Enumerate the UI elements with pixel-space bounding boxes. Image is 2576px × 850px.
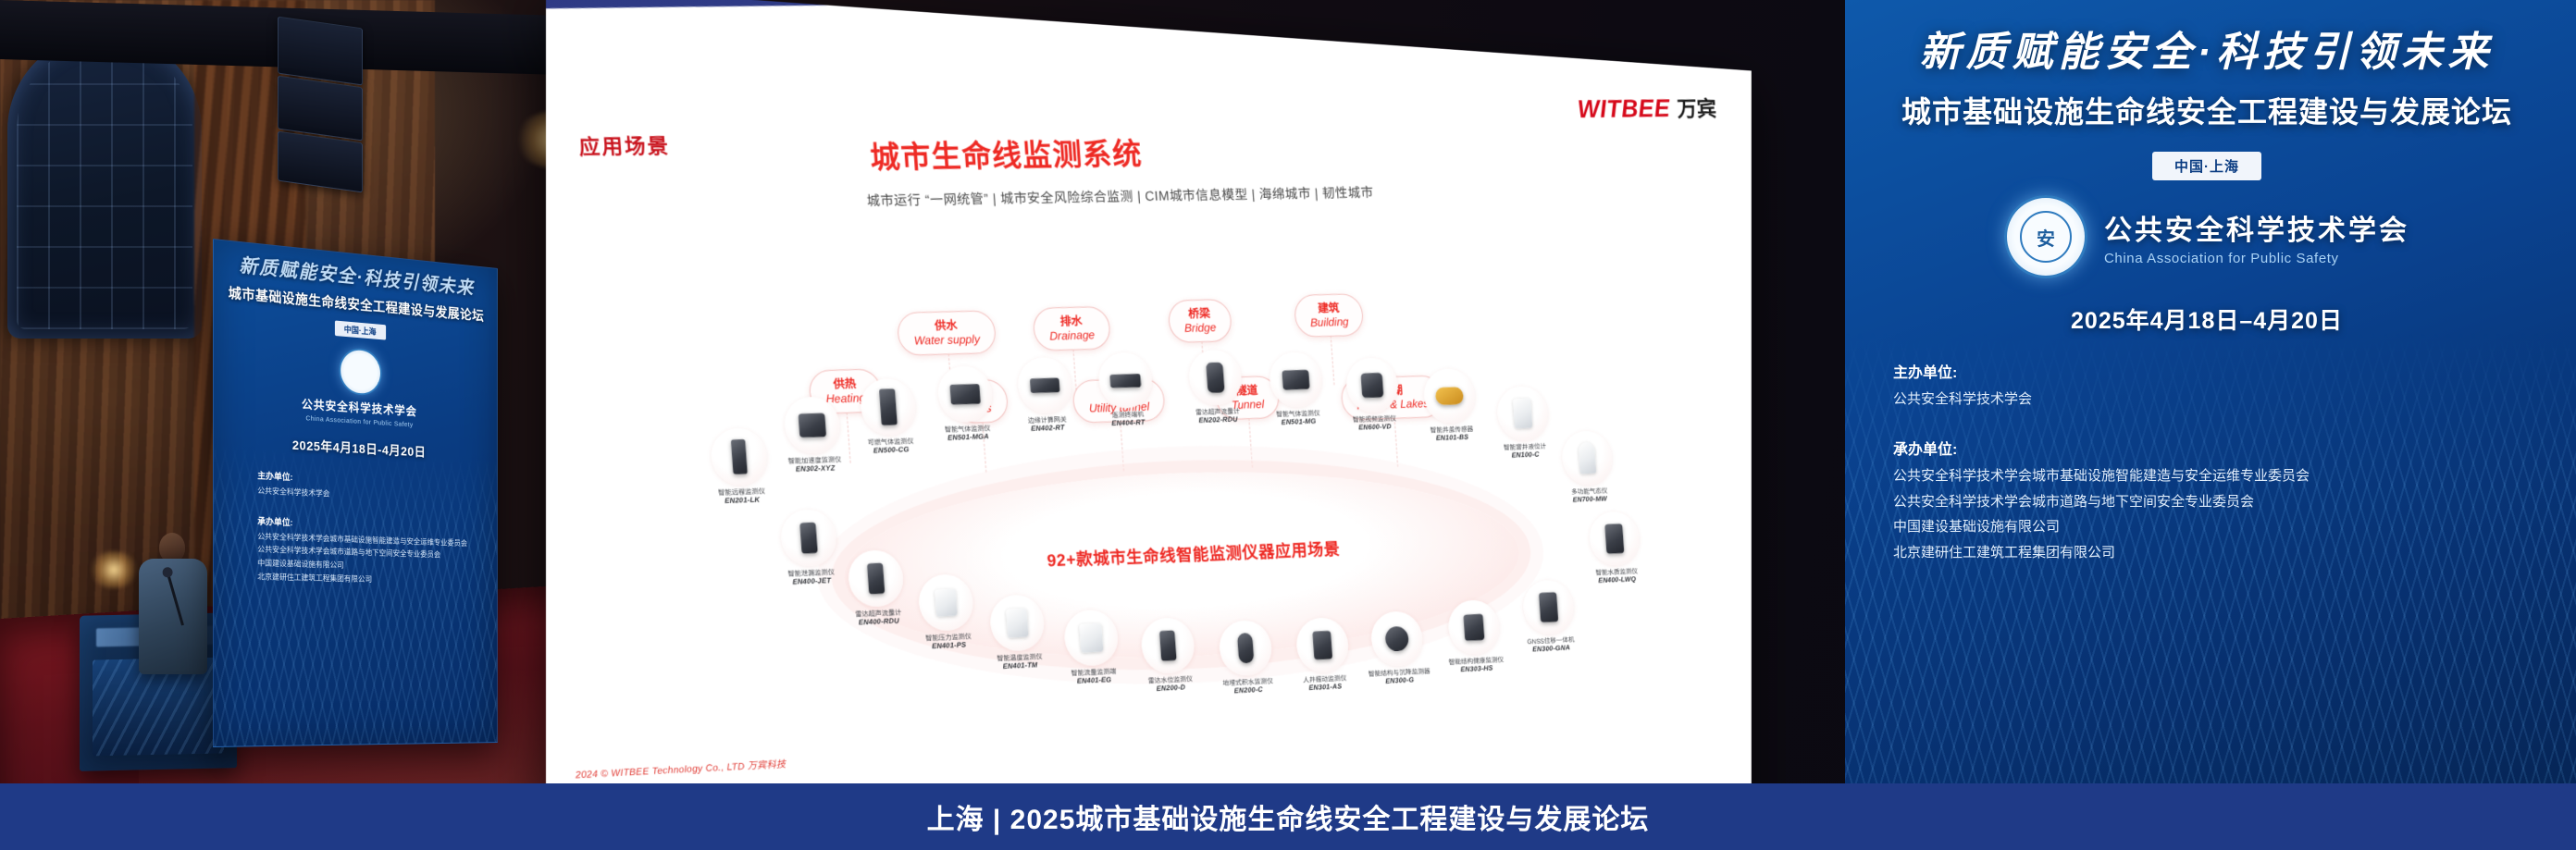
device-chip: 智能气体监测仪 EN501-MGA xyxy=(923,365,1009,443)
event-organizer-line: 公共安全科学技术学会城市道路与地下空间安全专业委员会 xyxy=(1893,489,2537,515)
banner-location-chip: 中国·上海 xyxy=(334,321,385,340)
event-organizer-line: 北京建研住工建筑工程集团有限公司 xyxy=(1893,540,2537,566)
bubble-label-cn: 建筑 xyxy=(1309,301,1348,315)
device-chip: 边缘计算网关 EN402-RT xyxy=(1003,357,1087,434)
event-forum-title: 城市基础设施生命线安全工程建设与发展论坛 xyxy=(1876,89,2537,131)
device-chip: 地埋式积水监测仪 EN200-C xyxy=(1205,619,1287,696)
device-chip: 多功能气态仪 EN700-MW xyxy=(1548,430,1627,505)
device-image xyxy=(936,365,994,423)
device-image xyxy=(1369,610,1424,667)
bubble-label-en: Drainage xyxy=(1049,327,1096,343)
presenter-body xyxy=(139,559,207,674)
event-calligraphy-title: 新质赋能安全·科技引领未来 xyxy=(1876,31,2537,74)
event-host-title: 主办单位: xyxy=(1893,360,2537,382)
device-image xyxy=(1561,430,1615,486)
association-name-en: China Association for Public Safety xyxy=(2104,251,2409,266)
conference-photo: 新质赋能安全·科技引领未来 城市基础设施生命线安全工程建设与发展论坛 中国·上海… xyxy=(0,0,2576,850)
device-image xyxy=(1218,620,1273,677)
device-chip: 智能视频监测仪 EN600-VD xyxy=(1332,357,1413,433)
device-chip: 智能流量监测端 EN401-EG xyxy=(1050,609,1134,686)
device-image xyxy=(779,509,838,567)
device-image xyxy=(1588,511,1641,566)
slide: WITBEE 万宾 应用场景 城市生命线监测系统 城市运行 “一网统管” | 城… xyxy=(546,0,1752,824)
bubble-water-supply: 供水 Water supply xyxy=(897,310,997,355)
event-organizer-line: 中国建设基础设施有限公司 xyxy=(1893,514,2537,540)
seal-glyph: 安 xyxy=(2020,211,2072,263)
bubble-drainage: 排水 Drainage xyxy=(1032,306,1110,351)
bubble-label-en: Building xyxy=(1310,314,1349,329)
event-date: 2025年4月18日–4月20日 xyxy=(1876,302,2537,336)
device-chip: 智能远程监测仪 EN201-LK xyxy=(696,427,784,506)
device-image xyxy=(1447,599,1501,656)
device-chip: 智能加速度监测仪 EN302-XYZ xyxy=(770,396,857,474)
event-organizer-block: 承办单位: 公共安全科学技术学会城市基础设施智能建造与安全运维专业委员会 公共安… xyxy=(1876,437,2537,566)
device-chip: 人井振动监测仪 EN301-AS xyxy=(1282,616,1364,693)
bubble-building: 建筑 Building xyxy=(1294,293,1365,337)
device-image xyxy=(1063,610,1120,667)
device-image xyxy=(1016,357,1073,414)
device-image xyxy=(1268,351,1323,408)
chandelier-light xyxy=(89,551,139,588)
bubble-label-en: Bridge xyxy=(1184,320,1217,335)
device-chip: 智能泄漏监测仪 EN400-JET xyxy=(766,509,853,587)
device-chip: 雷达水位监测仪 EN200-D xyxy=(1127,616,1210,694)
banner-date: 2025年4月18日-4月20日 xyxy=(228,432,484,464)
device-image xyxy=(1140,617,1196,674)
event-backdrop-panel: 新质赋能安全·科技引领未来 城市基础设施生命线安全工程建设与发展论坛 中国·上海… xyxy=(1845,0,2576,850)
bubble-label-en: Water supply xyxy=(913,332,980,348)
device-image xyxy=(1187,350,1243,406)
device-image xyxy=(1344,357,1399,413)
bubble-stem xyxy=(1121,421,1125,471)
event-organizer-line: 公共安全科学技术学会城市基础设施智能建造与安全运维专业委员会 xyxy=(1893,463,2537,489)
device-chip: 可燃气体监测仪 EN500-CG xyxy=(846,377,932,455)
device-chip: 雷达超声流量计 EN202-RDU xyxy=(1174,349,1257,425)
device-chip: 遥测终端机 EN404-RT xyxy=(1084,351,1168,428)
bubble-label-cn: 排水 xyxy=(1048,314,1095,329)
device-image xyxy=(917,573,975,632)
event-location-chip: 中国·上海 xyxy=(2152,152,2261,180)
bubble-label-cn: 桥梁 xyxy=(1183,306,1215,321)
stage-side-banner: 新质赋能安全·科技引领未来 城市基础设施生命线安全工程建设与发展论坛 中国·上海… xyxy=(213,239,498,747)
presenter xyxy=(137,533,209,690)
event-host-line: 公共安全科学技术学会 xyxy=(1893,387,2537,413)
device-image xyxy=(783,396,842,454)
banner-organizer-block: 承办单位: 公共安全科学技术学会城市基础设施智能建造与安全运维专业委员会 公共安… xyxy=(228,512,484,588)
device-image xyxy=(1422,368,1477,424)
device-image xyxy=(710,427,769,486)
device-chip: 智能水质监测仪 EN400-LWQ xyxy=(1576,511,1654,585)
device-chip: 智能结构与沉降监测器 EN300-G xyxy=(1357,610,1438,687)
association-seal-icon: 安 xyxy=(2004,195,2087,278)
bubble-bridge: 桥梁 Bridge xyxy=(1167,299,1232,342)
device-chip: 智能结构健康监测仪 EN303-HS xyxy=(1434,598,1514,674)
device-image xyxy=(1294,617,1350,674)
banner-association-seal-icon xyxy=(339,347,381,397)
led-presentation-screen: WITBEE 万宾 应用场景 城市生命线监测系统 城市运行 “一网统管” | 城… xyxy=(546,0,1752,824)
bubble-label-cn: 供水 xyxy=(912,317,979,333)
event-host-block: 主办单位: 公共安全科学技术学会 xyxy=(1876,360,2537,413)
caption-bar: 上海 | 2025城市基础设施生命线安全工程建设与发展论坛 xyxy=(0,783,2576,850)
device-image xyxy=(1522,579,1576,635)
bubble-stem xyxy=(1249,418,1254,468)
device-image xyxy=(1496,386,1550,441)
line-array-speaker xyxy=(278,17,363,86)
device-image xyxy=(988,594,1046,652)
banner-host-block: 主办单位: 公共安全科学技术学会 xyxy=(228,467,484,507)
arched-window xyxy=(7,33,202,339)
device-image xyxy=(859,378,917,436)
association-name-cn: 公共安全科学技术学会 xyxy=(2104,207,2409,248)
caption-text: 上海 | 2025城市基础设施生命线安全工程建设与发展论坛 xyxy=(927,796,1650,837)
device-chip: 智能气体监测仪 EN501-MG xyxy=(1256,351,1337,427)
device-image xyxy=(1097,352,1154,409)
device-chip: GNSS位移一体机 EN300-GNA xyxy=(1509,579,1588,655)
event-organizer-title: 承办单位: xyxy=(1893,437,2537,459)
device-image xyxy=(847,549,905,608)
device-chip: 智能井盖传感器 EN101-BS xyxy=(1410,368,1490,443)
event-association: 安 公共安全科学技术学会 China Association for Publi… xyxy=(1876,195,2537,278)
